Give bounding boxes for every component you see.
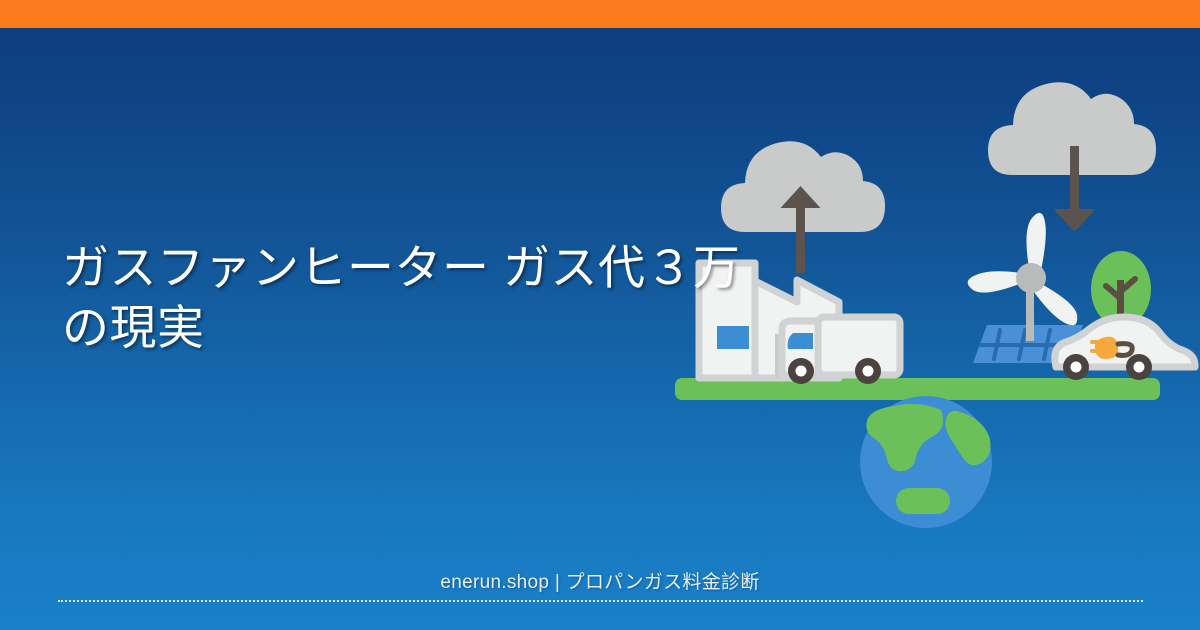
cloud-down-arrow [988,82,1156,232]
down-arrow-shaft [1070,146,1079,218]
wind-turbine [968,213,1078,341]
earth-globe [860,396,992,528]
down-arrow-head [1054,209,1096,232]
footer-branding: enerun.shop | プロパンガス料金診断 [0,571,1200,595]
footer-divider [58,600,1143,602]
page-title: ガスファンヒーター ガス代３万の現実 [62,238,762,358]
share-card: ガスファンヒーター ガス代３万の現実 enerun.shop | プロパンガス料… [0,0,1200,630]
truck-window [788,333,813,349]
truck [782,317,900,384]
